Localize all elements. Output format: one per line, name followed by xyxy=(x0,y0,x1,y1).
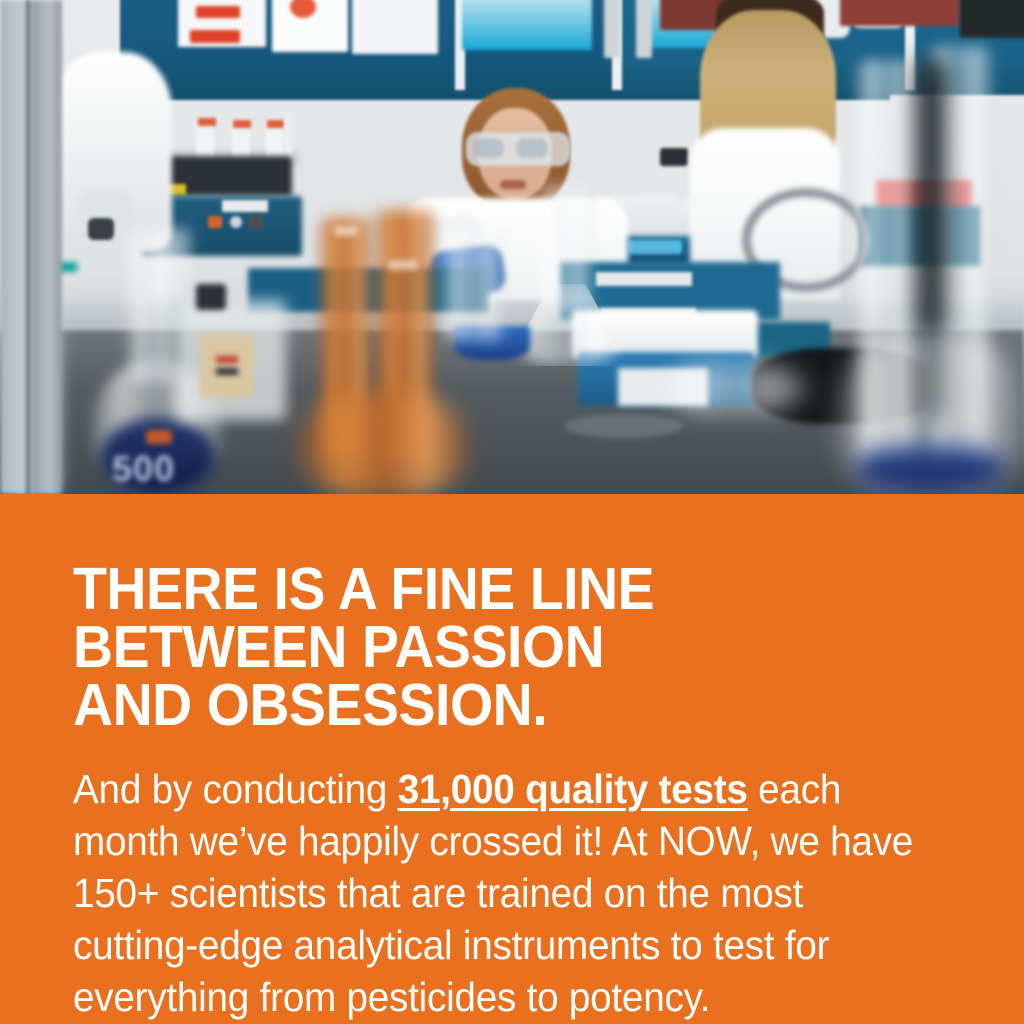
foreground-glass-b xyxy=(150,228,192,298)
foreground-bottle-label xyxy=(200,334,254,398)
headline-text: THERE IS A FINE LINE BETWEEN PASSION AND… xyxy=(73,560,919,735)
amber-marking-a xyxy=(334,226,358,236)
foreground-flask-right-liquid xyxy=(856,446,1006,494)
cabinet-label-red-a xyxy=(196,6,240,18)
bottle-label-stripe-b xyxy=(216,368,238,375)
cabinet-tube-a xyxy=(604,0,620,58)
stand-rod-left xyxy=(284,112,292,162)
left-pillar-seam xyxy=(26,0,30,494)
instrument-button-orange xyxy=(208,216,222,228)
flask-sticker-orange xyxy=(146,430,172,444)
quality-tests-emphasis: 31,000 quality tests xyxy=(398,766,748,812)
foreground-amber-flask-body xyxy=(300,392,468,494)
scientist-left-hand-object xyxy=(88,218,114,240)
cabinet-tube-b xyxy=(636,0,652,58)
bottle-label-stripe-a xyxy=(216,356,238,363)
instrument-knob-a xyxy=(230,216,242,228)
lower-cabinet-label-a xyxy=(596,272,692,286)
test-tube-cap-d xyxy=(267,120,285,128)
goggles-lens-left xyxy=(474,138,504,158)
flask-volume-label: 500 xyxy=(112,448,204,488)
scientist-center-mouth xyxy=(500,180,526,189)
watch-glass-dish xyxy=(660,362,810,414)
cabinet-box-c xyxy=(352,0,438,54)
instrument-right-accent xyxy=(628,240,682,254)
orange-text-panel: THERE IS A FINE LINE BETWEEN PASSION AND… xyxy=(0,494,1024,1024)
test-tube-cap-b xyxy=(198,118,216,126)
left-pillar xyxy=(0,0,62,494)
cabinet-contents-right-b xyxy=(840,0,960,26)
test-tube-cap-c xyxy=(233,120,251,128)
instrument-knob-b xyxy=(248,214,264,230)
center-beaker xyxy=(442,232,504,340)
foreground-bottle-cap xyxy=(196,284,226,310)
cabinet-contents-right-c xyxy=(960,0,1024,38)
instrument-display xyxy=(222,200,268,212)
bench-reflection xyxy=(564,414,684,438)
stand-clamp-right xyxy=(660,148,688,166)
promotional-poster: 500 THERE IS A FINE LINE BETWEEN PASSION… xyxy=(0,0,1024,1024)
goggles-lens-right xyxy=(516,138,548,158)
amber-marking-b xyxy=(388,260,418,270)
cabinet-bottle-blue-a xyxy=(462,0,592,50)
body-copy: And by conducting 31,000 quality tests e… xyxy=(73,763,913,1024)
body-text-before: And by conducting xyxy=(73,766,398,812)
cabinet-label-red-b xyxy=(190,30,240,43)
laboratory-photo: 500 xyxy=(0,0,1024,494)
